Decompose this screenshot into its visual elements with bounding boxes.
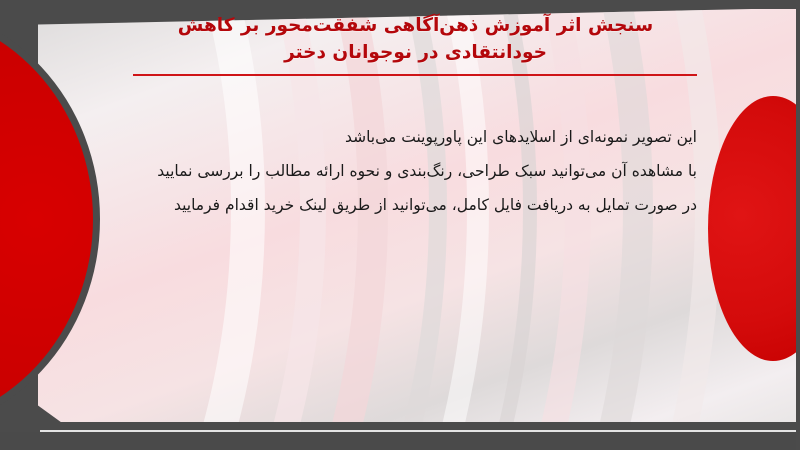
slide-canvas: سنجش اثر آموزش ذهن‌آگاهی شفقت‌محور بر کا… bbox=[0, 0, 800, 450]
slide-title-line-1: سنجش اثر آموزش ذهن‌آگاهی شفقت‌محور بر کا… bbox=[133, 12, 698, 39]
right-frame-strip bbox=[796, 0, 800, 450]
slide-title: سنجش اثر آموزش ذهن‌آگاهی شفقت‌محور بر کا… bbox=[133, 12, 698, 66]
title-divider bbox=[133, 74, 697, 76]
slide-title-line-2: خودانتقادی در نوجوانان دختر bbox=[133, 39, 698, 66]
slide-body-line-3: در صورت تمایل به دریافت فایل کامل، می‌تو… bbox=[157, 188, 697, 222]
top-frame-strip bbox=[0, 0, 800, 9]
slide-body-line-1: این تصویر نمونه‌ای از اسلایدهای این پاور… bbox=[157, 120, 697, 154]
slide-body-line-2: با مشاهده آن می‌توانید سبک طراحی، رنگ‌بن… bbox=[157, 154, 697, 188]
slide-body-text: این تصویر نمونه‌ای از اسلایدهای این پاور… bbox=[157, 120, 697, 222]
bottom-frame-strip bbox=[0, 432, 800, 450]
